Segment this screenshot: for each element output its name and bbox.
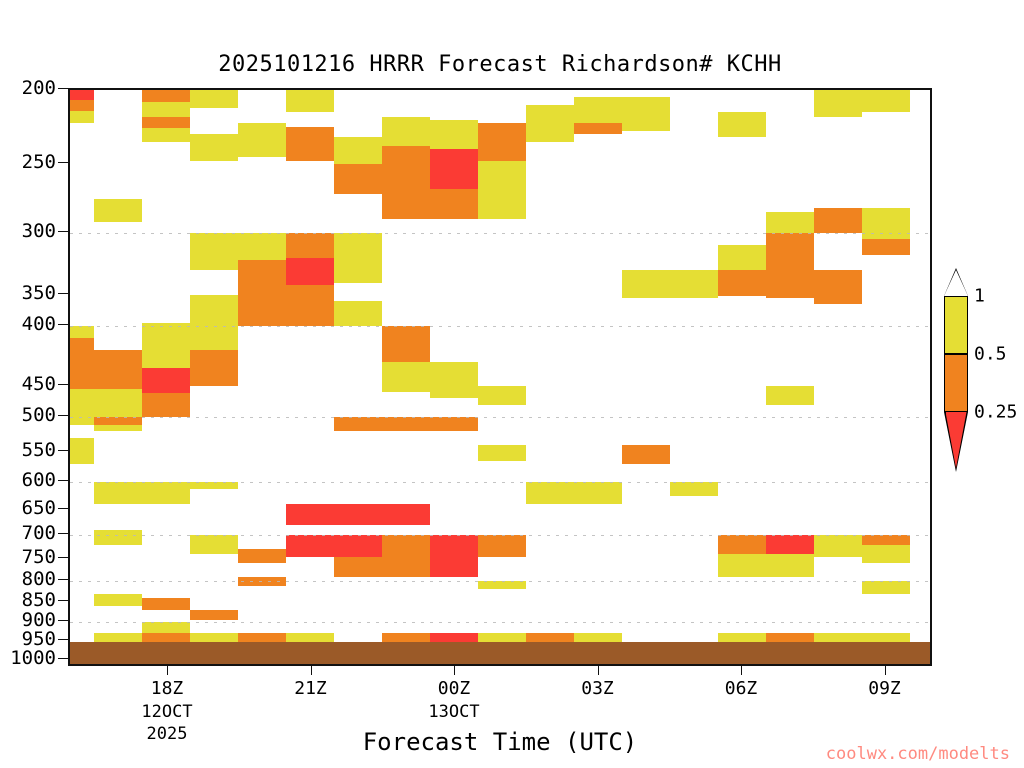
heatmap-cell — [766, 633, 814, 641]
heatmap-cell — [190, 482, 238, 489]
heatmap-cell — [430, 120, 478, 150]
y-axis-tick-label: 500 — [22, 404, 56, 426]
y-axis-tick — [58, 415, 68, 416]
heatmap-cell — [286, 504, 334, 525]
heatmap-cell — [478, 445, 526, 461]
heatmap-cell — [334, 164, 382, 194]
heatmap-cell — [142, 368, 190, 393]
x-axis-tick — [311, 666, 312, 675]
heatmap-cell — [478, 123, 526, 161]
heatmap-cell — [190, 233, 238, 270]
heatmap-cells — [70, 90, 930, 664]
x-axis-date-label: 12OCT — [141, 702, 192, 722]
heatmap-cell — [190, 610, 238, 620]
y-axis-tick — [58, 620, 68, 621]
heatmap-cell — [382, 326, 430, 362]
legend-yellow-band — [944, 296, 968, 354]
heatmap-cell — [574, 97, 622, 122]
heatmap-cell — [718, 112, 766, 137]
heatmap-cell — [670, 270, 718, 298]
heatmap-cell — [814, 208, 862, 233]
gridline — [70, 581, 930, 582]
heatmap-cell — [142, 393, 190, 417]
heatmap-cell — [286, 535, 334, 557]
heatmap-cell — [94, 594, 142, 606]
heatmap-cell — [574, 482, 622, 504]
heatmap-cell — [382, 117, 430, 147]
x-axis-tick-label: 03Z — [581, 678, 614, 699]
y-axis-tick — [58, 533, 68, 534]
y-axis-tick — [58, 600, 68, 601]
heatmap-cell — [814, 270, 862, 304]
heatmap-cell — [334, 504, 382, 525]
plot-area — [68, 88, 932, 666]
heatmap-cell — [94, 425, 142, 431]
y-axis-tick — [58, 162, 68, 163]
heatmap-cell — [814, 633, 862, 641]
y-axis-tick — [58, 557, 68, 558]
heatmap-cell — [718, 245, 766, 270]
heatmap-cell — [334, 535, 382, 557]
heatmap-cell — [70, 438, 94, 464]
heatmap-cell — [70, 338, 94, 389]
x-axis-date-label: 13OCT — [428, 702, 479, 722]
gridline — [70, 622, 930, 623]
heatmap-cell — [382, 535, 430, 557]
y-axis-tick-label: 250 — [22, 151, 56, 173]
heatmap-cell — [862, 239, 910, 255]
ground-band — [70, 642, 930, 664]
heatmap-cell — [142, 482, 190, 504]
heatmap-cell — [862, 633, 910, 641]
x-axis-tick-label: 21Z — [294, 678, 327, 699]
gridline — [70, 482, 930, 483]
heatmap-cell — [814, 90, 862, 117]
legend-bottom-arrow-fill — [946, 412, 967, 468]
y-axis-tick — [58, 88, 68, 89]
heatmap-cell — [382, 417, 430, 431]
y-axis-tick — [58, 658, 68, 659]
heatmap-cell — [622, 270, 670, 298]
heatmap-cell — [142, 622, 190, 633]
y-axis-tick-label: 750 — [22, 546, 56, 568]
x-axis-tick-label: 06Z — [725, 678, 758, 699]
y-axis-tick — [58, 324, 68, 325]
y-axis-tick-label: 200 — [22, 77, 56, 99]
heatmap-cell — [286, 285, 334, 326]
heatmap-cell — [766, 554, 814, 576]
heatmap-cell — [718, 633, 766, 641]
y-axis-tick-label: 400 — [22, 313, 56, 335]
heatmap-cell — [382, 633, 430, 641]
y-axis-tick — [58, 639, 68, 640]
heatmap-cell — [190, 134, 238, 161]
y-axis-tick-label: 450 — [22, 373, 56, 395]
heatmap-cell — [526, 633, 574, 641]
heatmap-cell — [862, 545, 910, 564]
y-axis-tick-label: 300 — [22, 220, 56, 242]
heatmap-cell — [94, 389, 142, 417]
heatmap-cell — [286, 633, 334, 641]
heatmap-cell — [238, 633, 286, 641]
heatmap-cell — [334, 137, 382, 164]
heatmap-cell — [334, 301, 382, 326]
y-axis-tick-label: 600 — [22, 469, 56, 491]
y-axis-tick-label: 800 — [22, 568, 56, 590]
heatmap-cell — [238, 549, 286, 563]
y-axis-tick — [58, 508, 68, 509]
x-axis-tick — [741, 666, 742, 675]
y-axis-tick-label: 1000 — [10, 647, 56, 669]
heatmap-cell — [70, 417, 94, 425]
y-axis: 2002503003504004505005506006507007508008… — [0, 88, 68, 666]
x-axis-tick — [598, 666, 599, 675]
heatmap-cell — [190, 633, 238, 641]
heatmap-cell — [142, 598, 190, 610]
heatmap-cell — [430, 417, 478, 431]
heatmap-cell — [718, 535, 766, 554]
watermark: coolwx.com/modelts — [826, 744, 1010, 764]
heatmap-cell — [622, 97, 670, 131]
heatmap-cell — [478, 161, 526, 219]
heatmap-cell — [382, 146, 430, 219]
heatmap-cell — [382, 362, 430, 392]
heatmap-cell — [190, 350, 238, 386]
heatmap-cell — [430, 189, 478, 219]
x-axis-tick — [454, 666, 455, 675]
y-axis-tick — [58, 384, 68, 385]
heatmap-cell — [430, 633, 478, 641]
gridline — [70, 417, 930, 418]
x-axis-tick-label: 18Z — [151, 678, 184, 699]
heatmap-cell — [70, 100, 94, 110]
heatmap-cell — [238, 301, 286, 326]
heatmap-cell — [286, 127, 334, 161]
heatmap-cell — [190, 535, 238, 554]
chart-root: 2025101216 HRRR Forecast Richardson# KCH… — [0, 0, 1024, 768]
heatmap-cell — [766, 212, 814, 233]
heatmap-cell — [766, 233, 814, 298]
heatmap-cell — [70, 389, 94, 417]
color-legend: 10.50.25 — [944, 296, 970, 472]
heatmap-cell — [430, 535, 478, 557]
heatmap-cell — [238, 280, 286, 301]
heatmap-cell — [70, 111, 94, 123]
y-axis-tick — [58, 579, 68, 580]
chart-title: 2025101216 HRRR Forecast Richardson# KCH… — [0, 52, 1000, 77]
y-axis-tick — [58, 480, 68, 481]
x-axis-tick — [167, 666, 168, 675]
heatmap-cell — [94, 482, 142, 504]
heatmap-cell — [382, 557, 430, 577]
x-axis-tick — [885, 666, 886, 675]
heatmap-cell — [190, 295, 238, 321]
y-axis-tick-label: 350 — [22, 282, 56, 304]
heatmap-cell — [334, 557, 382, 577]
heatmap-cell — [142, 128, 190, 141]
heatmap-cell — [478, 581, 526, 589]
heatmap-cell — [430, 149, 478, 189]
heatmap-cell — [430, 362, 478, 398]
heatmap-cell — [142, 102, 190, 117]
heatmap-cell — [574, 633, 622, 641]
x-axis-tick-label: 00Z — [438, 678, 471, 699]
heatmap-cell — [286, 258, 334, 285]
x-axis-tick-label: 09Z — [868, 678, 901, 699]
heatmap-cell — [94, 199, 142, 222]
heatmap-cell — [622, 445, 670, 464]
heatmap-cell — [478, 633, 526, 641]
heatmap-cell — [142, 323, 190, 368]
heatmap-cell — [142, 90, 190, 102]
y-axis-tick-label: 700 — [22, 522, 56, 544]
heatmap-cell — [766, 535, 814, 554]
heatmap-cell — [478, 535, 526, 557]
heatmap-cell — [526, 105, 574, 142]
heatmap-cell — [430, 557, 478, 577]
y-axis-tick — [58, 231, 68, 232]
heatmap-cell — [814, 535, 862, 557]
gridline — [70, 326, 930, 327]
heatmap-cell — [334, 233, 382, 283]
legend-tick-label: 0.5 — [974, 344, 1007, 365]
heatmap-cell — [862, 535, 910, 545]
heatmap-cell — [94, 530, 142, 545]
legend-tick-label: 0.25 — [974, 402, 1017, 423]
heatmap-cell — [70, 90, 94, 100]
heatmap-cell — [862, 90, 910, 112]
y-axis-tick-label: 550 — [22, 439, 56, 461]
heatmap-cell — [238, 260, 286, 280]
heatmap-cell — [478, 386, 526, 405]
legend-orange-band — [944, 354, 968, 412]
heatmap-cell — [94, 350, 142, 389]
heatmap-cell — [334, 417, 382, 431]
heatmap-cell — [718, 554, 766, 576]
heatmap-cell — [862, 208, 910, 239]
heatmap-cell — [190, 90, 238, 108]
gridline — [70, 535, 930, 536]
y-axis-tick — [58, 450, 68, 451]
heatmap-cell — [94, 417, 142, 425]
heatmap-cell — [94, 633, 142, 641]
heatmap-cell — [238, 123, 286, 157]
heatmap-cell — [766, 386, 814, 405]
y-axis-tick-label: 650 — [22, 497, 56, 519]
gridline — [70, 233, 930, 234]
heatmap-cell — [286, 90, 334, 112]
heatmap-cell — [862, 581, 910, 594]
heatmap-cell — [238, 233, 286, 260]
heatmap-cell — [718, 270, 766, 296]
heatmap-cell — [286, 233, 334, 258]
heatmap-cell — [382, 504, 430, 525]
heatmap-cell — [574, 123, 622, 135]
legend-tick-label: 1 — [974, 286, 985, 307]
heatmap-cell — [526, 482, 574, 504]
heatmap-cell — [142, 117, 190, 129]
heatmap-cell — [70, 326, 94, 338]
y-axis-tick-label: 850 — [22, 589, 56, 611]
y-axis-tick — [58, 293, 68, 294]
heatmap-cell — [670, 482, 718, 496]
